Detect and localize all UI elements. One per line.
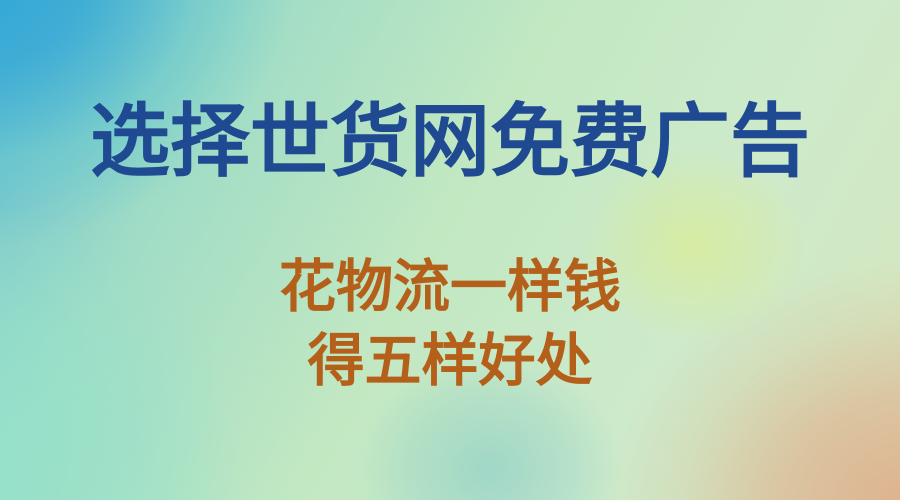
banner-subtitle-line-1: 花物流一样钱 [0,250,900,324]
banner-headline: 选择世货网免费广告 [0,96,900,188]
banner-subtitle-line-2: 得五样好处 [0,324,900,398]
promo-banner: 选择世货网免费广告 花物流一样钱 得五样好处 [0,0,900,500]
banner-content: 选择世货网免费广告 花物流一样钱 得五样好处 [0,0,900,500]
banner-subtitle: 花物流一样钱 得五样好处 [0,250,900,398]
